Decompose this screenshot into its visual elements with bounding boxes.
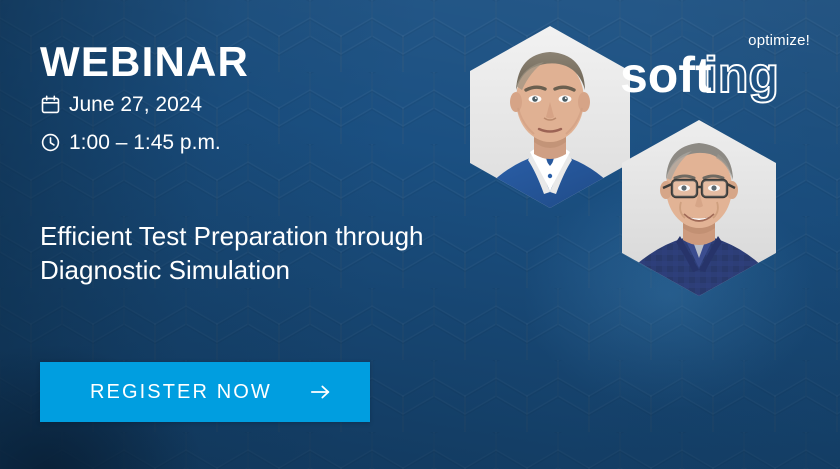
logo-word-soft: soft [620,49,712,103]
webinar-time: 1:00 – 1:45 p.m. [41,132,221,153]
clock-icon [41,133,60,152]
webinar-topic-line-1: Efficient Test Preparation through [40,219,510,253]
logo-tagline: optimize! [620,33,810,48]
page-title: WEBINAR [40,41,249,83]
arrow-right-icon [310,382,332,402]
webinar-topic-line-2: Diagnostic Simulation [40,253,510,287]
webinar-date: June 27, 2024 [41,94,202,115]
webinar-time-text: 1:00 – 1:45 p.m. [69,132,221,153]
webinar-date-text: June 27, 2024 [69,94,202,115]
banner-content: WEBINAR June 27, 2024 1:00 – 1:45 p.m. E… [0,0,840,469]
register-now-label: REGISTER NOW [90,382,272,402]
register-now-button[interactable]: REGISTER NOW [40,362,370,422]
webinar-topic: Efficient Test Preparation through Diagn… [40,219,510,288]
logo-wordmark: soft ing [620,49,816,105]
calendar-icon [41,95,60,114]
webinar-banner: WEBINAR June 27, 2024 1:00 – 1:45 p.m. E… [0,0,840,469]
softing-logo: optimize! soft ing [620,33,816,105]
logo-word-ing: ing [704,49,779,103]
